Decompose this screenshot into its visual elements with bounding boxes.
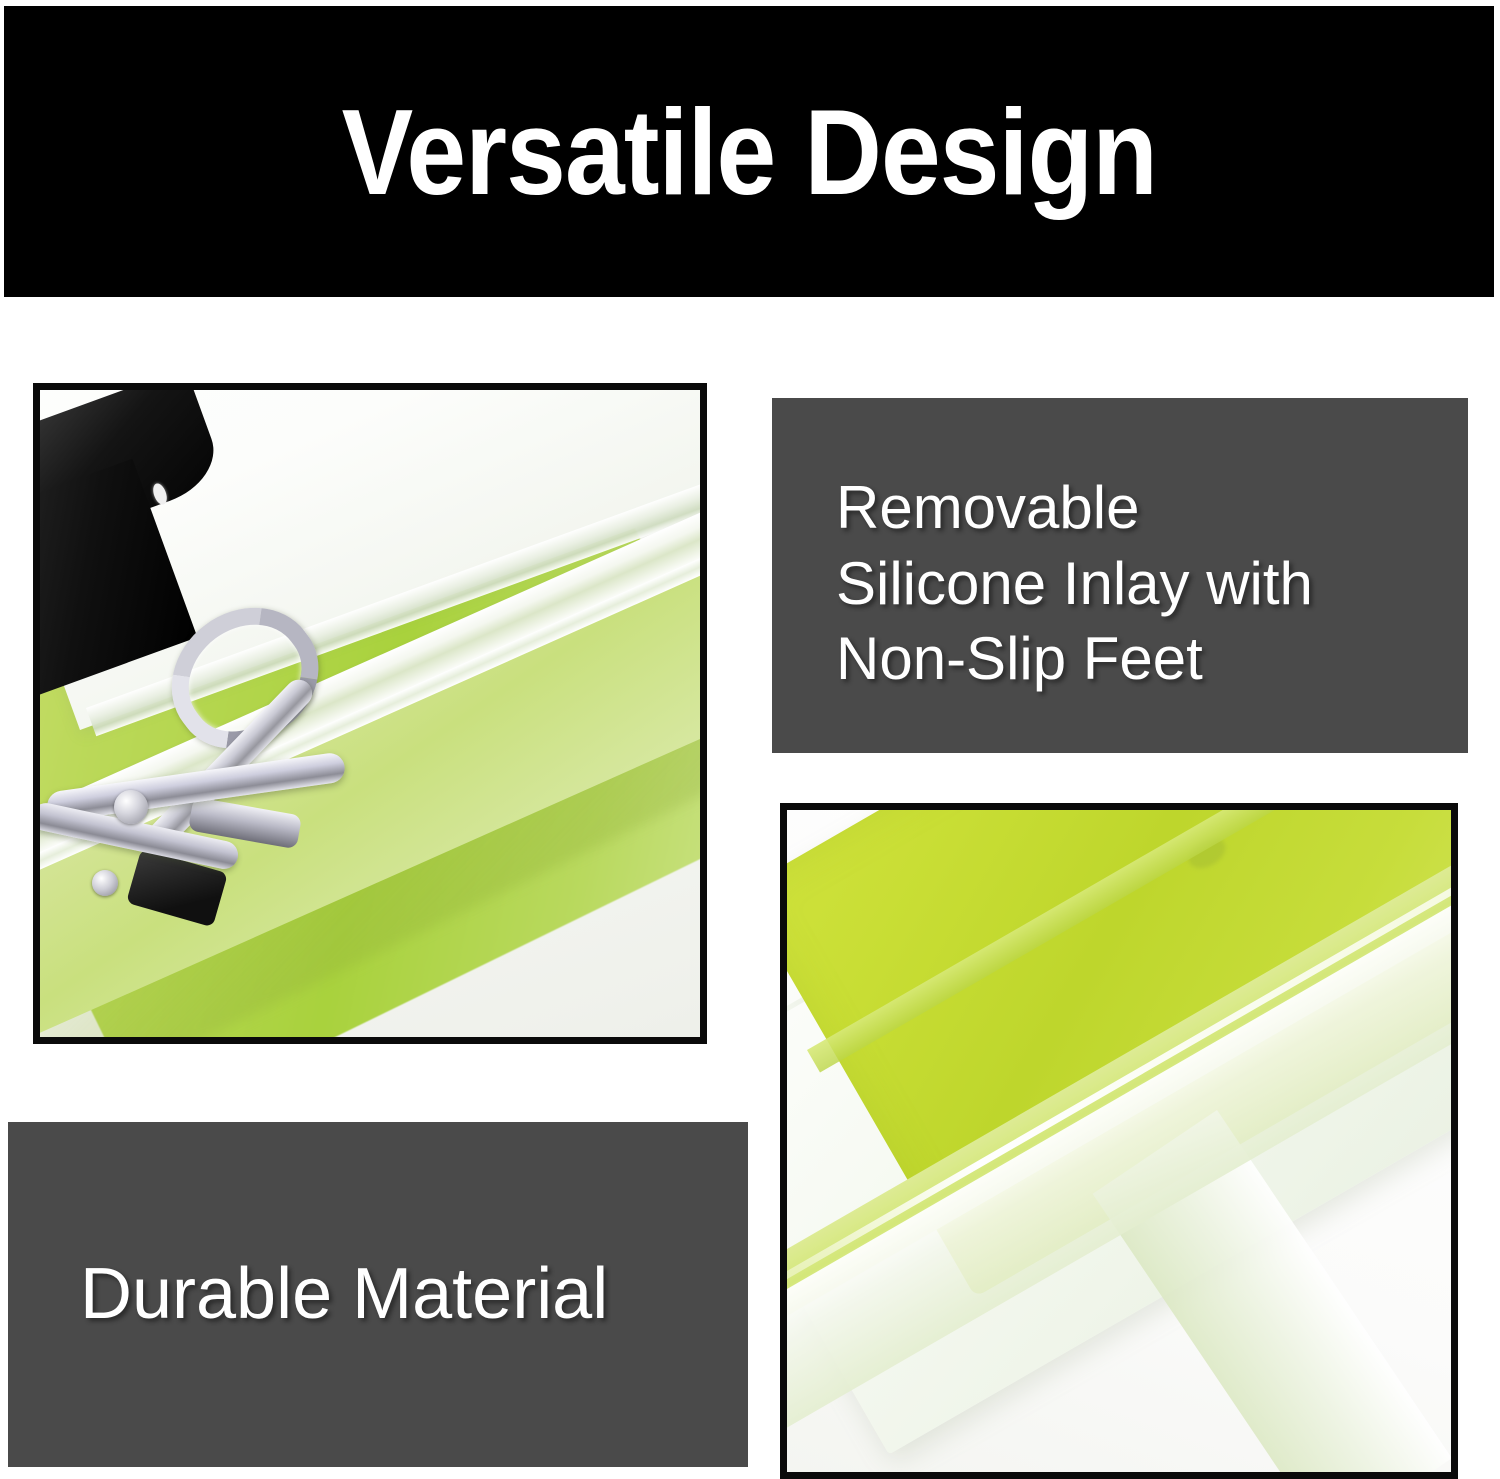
product-photo-tray-with-inlay: [780, 803, 1458, 1479]
feature-callout-durable-material-text: Durable Material: [80, 1255, 608, 1334]
header-banner: Versatile Design: [4, 6, 1494, 297]
hole-punch-pivot-screw: [114, 790, 148, 824]
photo-tray-with-tools-image: [40, 390, 700, 1037]
feature-callout-silicone-inlay: RemovableSilicone Inlay withNon-Slip Fee…: [772, 398, 1468, 753]
photo-tray-with-inlay-image: [787, 810, 1451, 1472]
hole-punch-secondary-screw: [92, 870, 118, 896]
product-photo-tray-with-tools: [33, 383, 707, 1044]
page-title: Versatile Design: [341, 91, 1156, 213]
feature-callout-silicone-inlay-text: RemovableSilicone Inlay withNon-Slip Fee…: [836, 470, 1468, 697]
feature-callout-durable-material: Durable Material: [8, 1122, 748, 1467]
